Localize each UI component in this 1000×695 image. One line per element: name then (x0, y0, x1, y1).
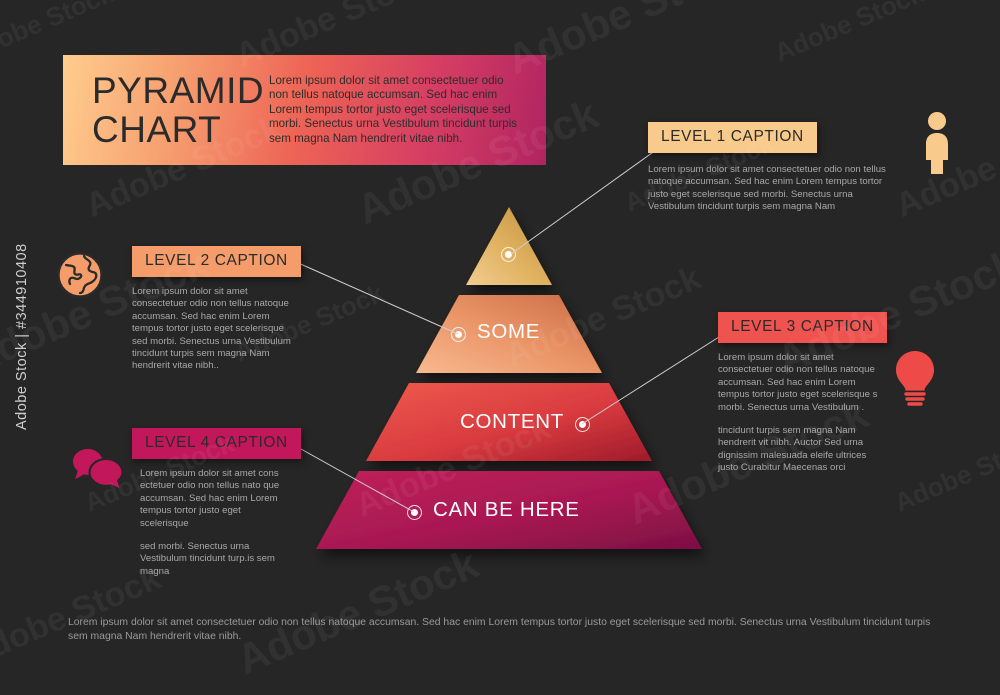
pyramid-level-1[interactable] (466, 207, 552, 285)
page-title: PYRAMID CHART (92, 71, 267, 149)
pyramid-level-2-label: SOME (477, 320, 540, 344)
caption-block-level-4: LEVEL 4 CAPTION Lorem ipsum dolor sit am… (132, 428, 298, 578)
caption-badge-level-1[interactable]: LEVEL 1 CAPTION (648, 122, 817, 153)
caption-paragraph: tincidunt turpis sem magna Nam hendrerit… (718, 425, 886, 475)
person-icon (918, 112, 956, 179)
pyramid-level-3-marker[interactable] (575, 417, 590, 432)
lightbulb-icon (893, 350, 937, 413)
caption-block-level-3: LEVEL 3 CAPTION Lorem ipsum dolor sit am… (718, 312, 886, 475)
pyramid-chart: SOME CONTENT CAN BE HERE (255, 195, 775, 575)
caption-paragraph: Lorem ipsum dolor sit amet consectetuer … (132, 286, 294, 373)
caption-paragraph: Lorem ipsum dolor sit amet consectetuer … (718, 352, 886, 414)
caption-paragraph: Lorem ipsum dolor sit amet consectetuer … (648, 164, 898, 214)
watermark-text: Adobe Stock (770, 0, 928, 69)
stock-id-watermark: Adobe Stock | #344910408 (14, 243, 30, 430)
header-description: Lorem ipsum dolor sit amet consectetuer … (269, 74, 522, 147)
globe-icon (57, 252, 103, 303)
pyramid-level-4-marker[interactable] (407, 505, 422, 520)
pyramid-level-2-marker[interactable] (451, 327, 466, 342)
page-title-line1: PYRAMID (92, 71, 267, 110)
pyramid-level-3-label: CONTENT (460, 410, 564, 434)
caption-paragraph: sed morbi. Senectus urna Vestibulum tinc… (140, 541, 290, 578)
caption-badge-level-3[interactable]: LEVEL 3 CAPTION (718, 312, 887, 343)
watermark-text: Adobe Stock (890, 428, 1000, 519)
footer-text: Lorem ipsum dolor sit amet consectetuer … (68, 616, 933, 644)
caption-body-level-2: Lorem ipsum dolor sit amet consectetuer … (132, 286, 294, 373)
pyramid-level-1-marker[interactable] (501, 247, 516, 262)
page-title-line2: CHART (92, 110, 267, 149)
caption-badge-level-4[interactable]: LEVEL 4 CAPTION (132, 428, 301, 459)
caption-body-level-4: Lorem ipsum dolor sit amet cons ectetuer… (140, 468, 290, 578)
caption-paragraph: Lorem ipsum dolor sit amet cons ectetuer… (140, 468, 290, 530)
caption-badge-level-2[interactable]: LEVEL 2 CAPTION (132, 246, 301, 277)
caption-block-level-1: LEVEL 1 CAPTION Lorem ipsum dolor sit am… (648, 122, 898, 214)
pyramid-level-4-label: CAN BE HERE (433, 498, 580, 522)
speech-bubbles-icon (72, 448, 124, 495)
caption-body-level-3: Lorem ipsum dolor sit amet consectetuer … (718, 352, 886, 475)
caption-body-level-1: Lorem ipsum dolor sit amet consectetuer … (648, 164, 898, 214)
caption-block-level-2: LEVEL 2 CAPTION Lorem ipsum dolor sit am… (132, 246, 302, 373)
header-banner: PYRAMID CHART Lorem ipsum dolor sit amet… (63, 55, 546, 165)
